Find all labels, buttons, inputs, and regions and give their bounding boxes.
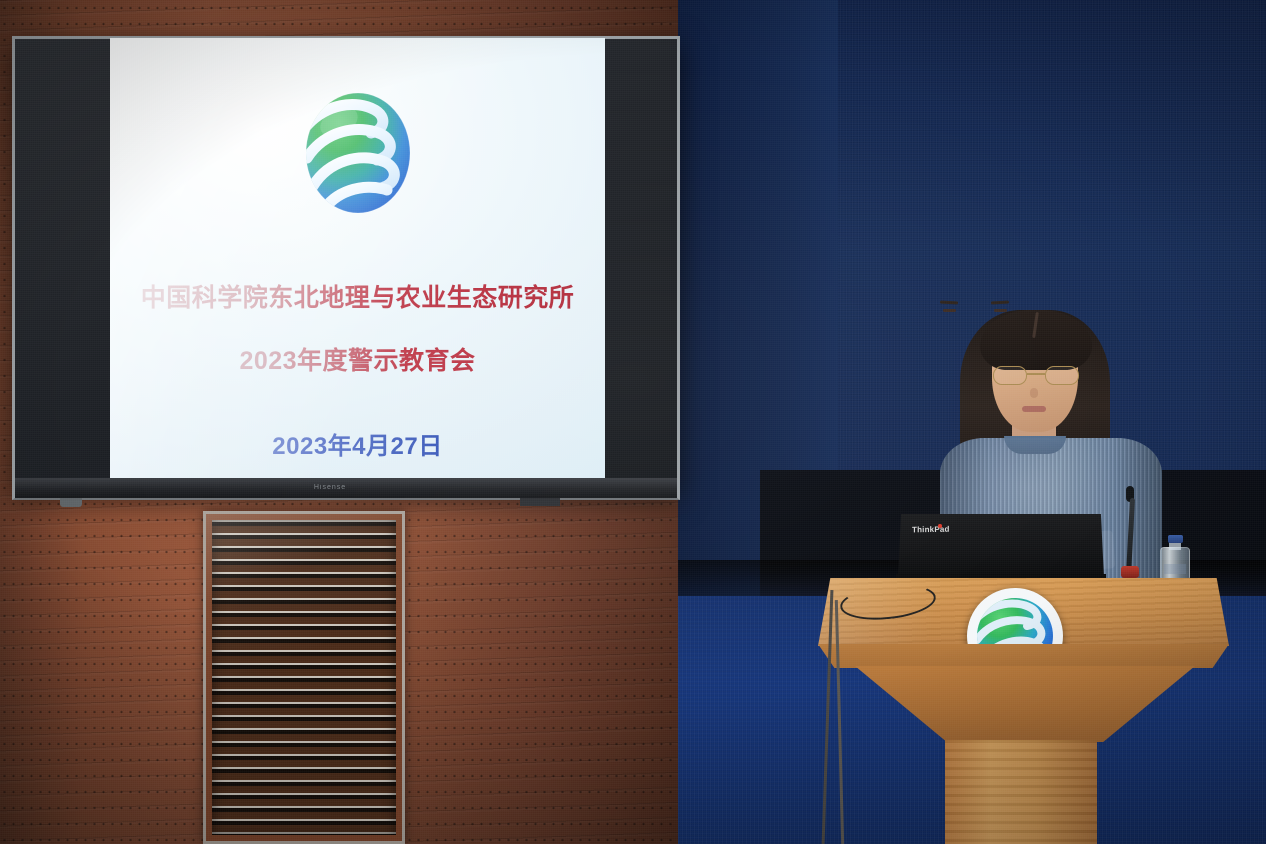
bottle-body — [1160, 547, 1190, 580]
screenshot-root: 中国科学院东北地理与农业生态研究所 2023年度警示教育会 2023年4月27日… — [0, 0, 1266, 844]
eye-right — [994, 309, 1007, 312]
presentation-slide: 中国科学院东北地理与农业生态研究所 2023年度警示教育会 2023年4月27日 — [110, 38, 605, 488]
vent-glass-reflection — [206, 514, 402, 841]
mouth — [1022, 406, 1046, 412]
slide-subtitle: 2023年度警示教育会 — [110, 341, 605, 377]
slide-title: 中国科学院东北地理与农业生态研究所 — [110, 278, 605, 314]
thinkpad-laptop[interactable] — [898, 514, 1104, 578]
thinkpad-logo: ThinkPad — [912, 525, 950, 535]
bottle-cap — [1168, 535, 1183, 543]
slide-date: 2023年4月27日 — [110, 426, 605, 461]
display-mount-bracket — [520, 498, 560, 506]
thinkpad-logo-dot-icon — [938, 524, 942, 528]
podium-front-edge — [818, 644, 1229, 668]
podium-pedestal — [945, 740, 1097, 844]
eyebrow-right — [991, 301, 1009, 304]
glasses-bridge — [1027, 373, 1045, 375]
eyeglasses-icon — [991, 366, 1081, 386]
display-brand-label: Hisense — [300, 484, 360, 493]
lens-right — [1045, 366, 1079, 385]
air-vent-grille — [203, 511, 405, 844]
microphone-base — [1121, 566, 1139, 578]
water-bottle[interactable] — [1160, 535, 1190, 580]
globe-icon — [299, 86, 417, 220]
nose — [1030, 388, 1038, 398]
lens-left — [993, 366, 1027, 385]
eye-left — [943, 309, 956, 312]
institute-globe-logo — [299, 86, 417, 220]
display-mount-foot — [60, 498, 82, 507]
eyebrow-left — [940, 301, 958, 304]
